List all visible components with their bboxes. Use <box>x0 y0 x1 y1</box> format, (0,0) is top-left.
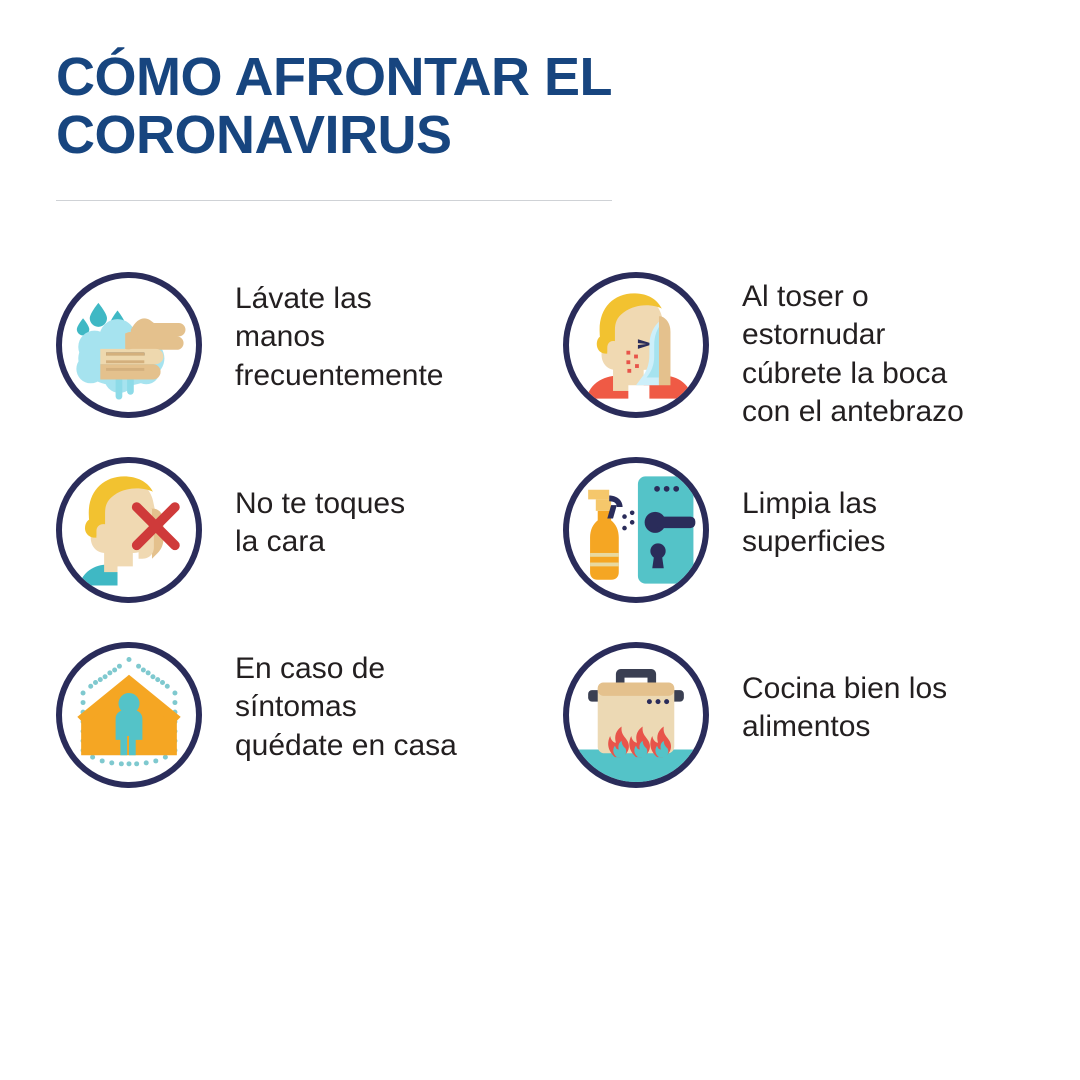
cough-into-elbow-icon <box>563 272 709 418</box>
tips-grid: Lávate las manos frecuentemente <box>0 272 1080 827</box>
tip-label: Al toser o estornudar cúbrete la boca co… <box>742 272 964 432</box>
tip-label: No te toques la cara <box>235 457 405 562</box>
tip-stay-home: En caso de síntomas quédate en casa <box>56 642 563 827</box>
tip-label: En caso de síntomas quédate en casa <box>235 642 457 765</box>
spray-bottle-door-icon <box>563 457 709 603</box>
washing-hands-icon <box>56 272 202 418</box>
tip-dont-touch-face: No te toques la cara <box>56 457 563 642</box>
tip-cook-food: Cocina bien los alimentos <box>563 642 1070 827</box>
infographic-poster: CÓMO AFRONTAR EL CORONAVIRUS <box>0 0 1080 1080</box>
tip-wash-hands: Lávate las manos frecuentemente <box>56 272 563 457</box>
stay-at-home-icon <box>56 642 202 788</box>
tip-cough-elbow: Al toser o estornudar cúbrete la boca co… <box>563 272 1070 457</box>
page-title: CÓMO AFRONTAR EL CORONAVIRUS <box>56 48 756 165</box>
cooking-pot-icon <box>563 642 709 788</box>
tip-clean-surfaces: Limpia las superficies <box>563 457 1070 642</box>
tip-label: Cocina bien los alimentos <box>742 642 947 747</box>
no-face-touching-icon <box>56 457 202 603</box>
tip-label: Limpia las superficies <box>742 457 885 562</box>
title-divider <box>56 200 612 201</box>
header: CÓMO AFRONTAR EL CORONAVIRUS <box>56 48 756 165</box>
tip-label: Lávate las manos frecuentemente <box>235 272 443 395</box>
